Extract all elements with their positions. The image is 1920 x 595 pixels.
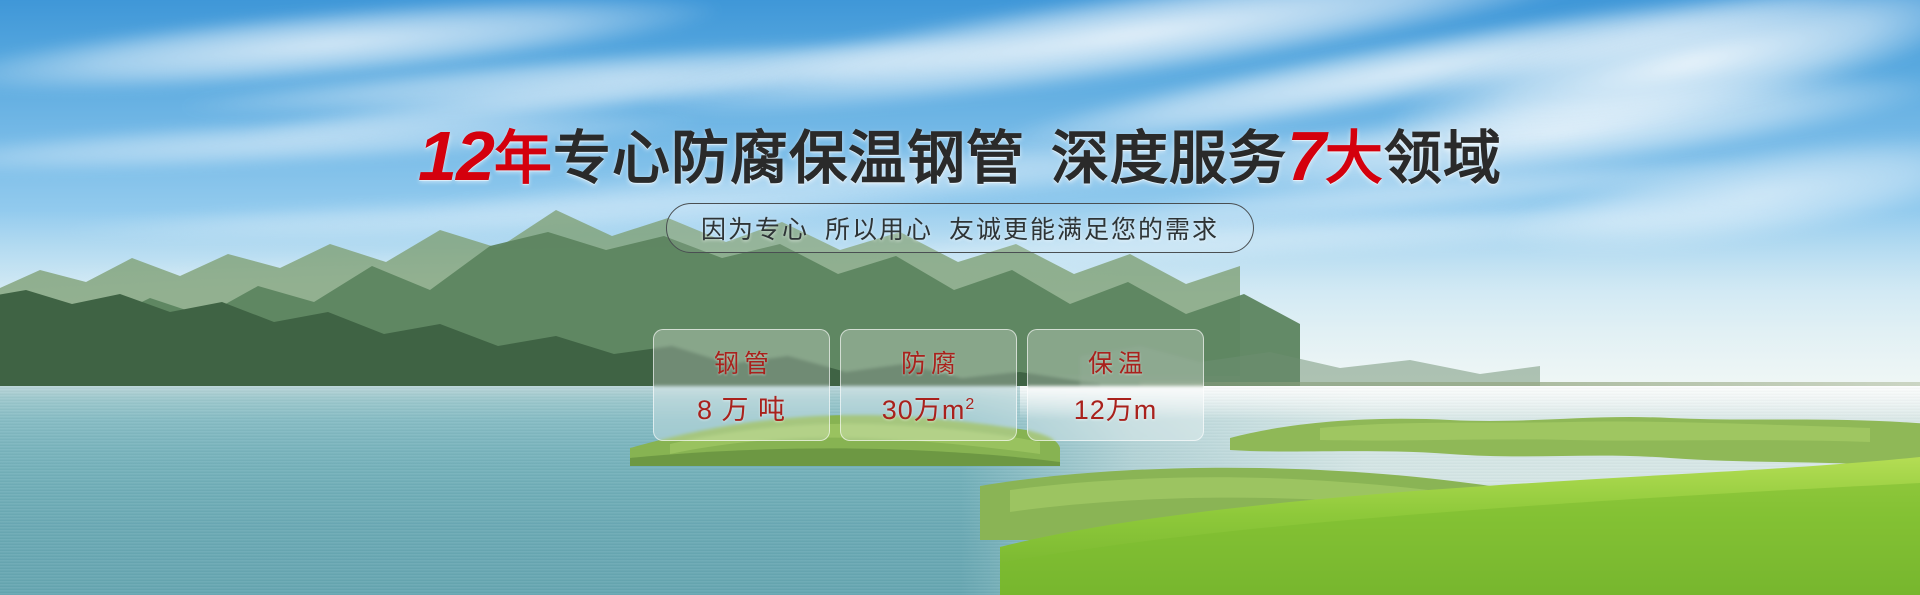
stat-card-value-text: 8 万 吨 bbox=[697, 395, 786, 425]
headline-segment-2: 深度服务 bbox=[1051, 126, 1287, 191]
stat-card-value: 8 万 吨 bbox=[697, 388, 786, 427]
stat-card-title: 保温 bbox=[1083, 344, 1148, 380]
subtitle-part-1: 因为专心 bbox=[701, 210, 809, 246]
headline-years-unit: 年 bbox=[494, 126, 553, 191]
foreground-grass bbox=[1000, 451, 1920, 595]
stat-card-value: 12万m bbox=[1074, 388, 1158, 427]
headline-years-number: 12 bbox=[418, 117, 494, 195]
stat-card-value-text: 12万m bbox=[1074, 395, 1158, 425]
stat-card-title: 防腐 bbox=[896, 344, 961, 380]
stat-card-value-text: 30万m bbox=[882, 395, 966, 425]
stat-card-insulation[interactable]: 保温 12万m bbox=[1027, 329, 1204, 441]
subtitle-part-2: 所以用心 bbox=[825, 210, 933, 246]
stat-card-title: 钢管 bbox=[709, 344, 774, 380]
headline-fields-unit: 大 bbox=[1325, 126, 1384, 191]
stat-card-value-superscript: 2 bbox=[965, 396, 975, 413]
stat-card-steel-pipe[interactable]: 钢管 8 万 吨 bbox=[653, 329, 830, 441]
stat-card-value: 30万m2 bbox=[882, 388, 975, 427]
subtitle-part-3: 友诚更能满足您的需求 bbox=[949, 210, 1219, 246]
headline-fields-number: 7 bbox=[1287, 117, 1325, 195]
stat-card-anticorrosion[interactable]: 防腐 30万m2 bbox=[840, 329, 1017, 441]
hero-banner: 12年专心防腐保温钢管深度服务7大领域 因为专心 所以用心 友诚更能满足您的需求… bbox=[0, 0, 1920, 595]
headline-segment-1: 专心防腐保温钢管 bbox=[553, 126, 1025, 191]
headline-segment-3: 领域 bbox=[1384, 126, 1502, 191]
headline: 12年专心防腐保温钢管深度服务7大领域 bbox=[0, 121, 1920, 191]
stat-card-group: 钢管 8 万 吨 防腐 30万m2 保温 12万m bbox=[653, 329, 1204, 441]
subtitle-pill: 因为专心 所以用心 友诚更能满足您的需求 bbox=[666, 203, 1254, 253]
